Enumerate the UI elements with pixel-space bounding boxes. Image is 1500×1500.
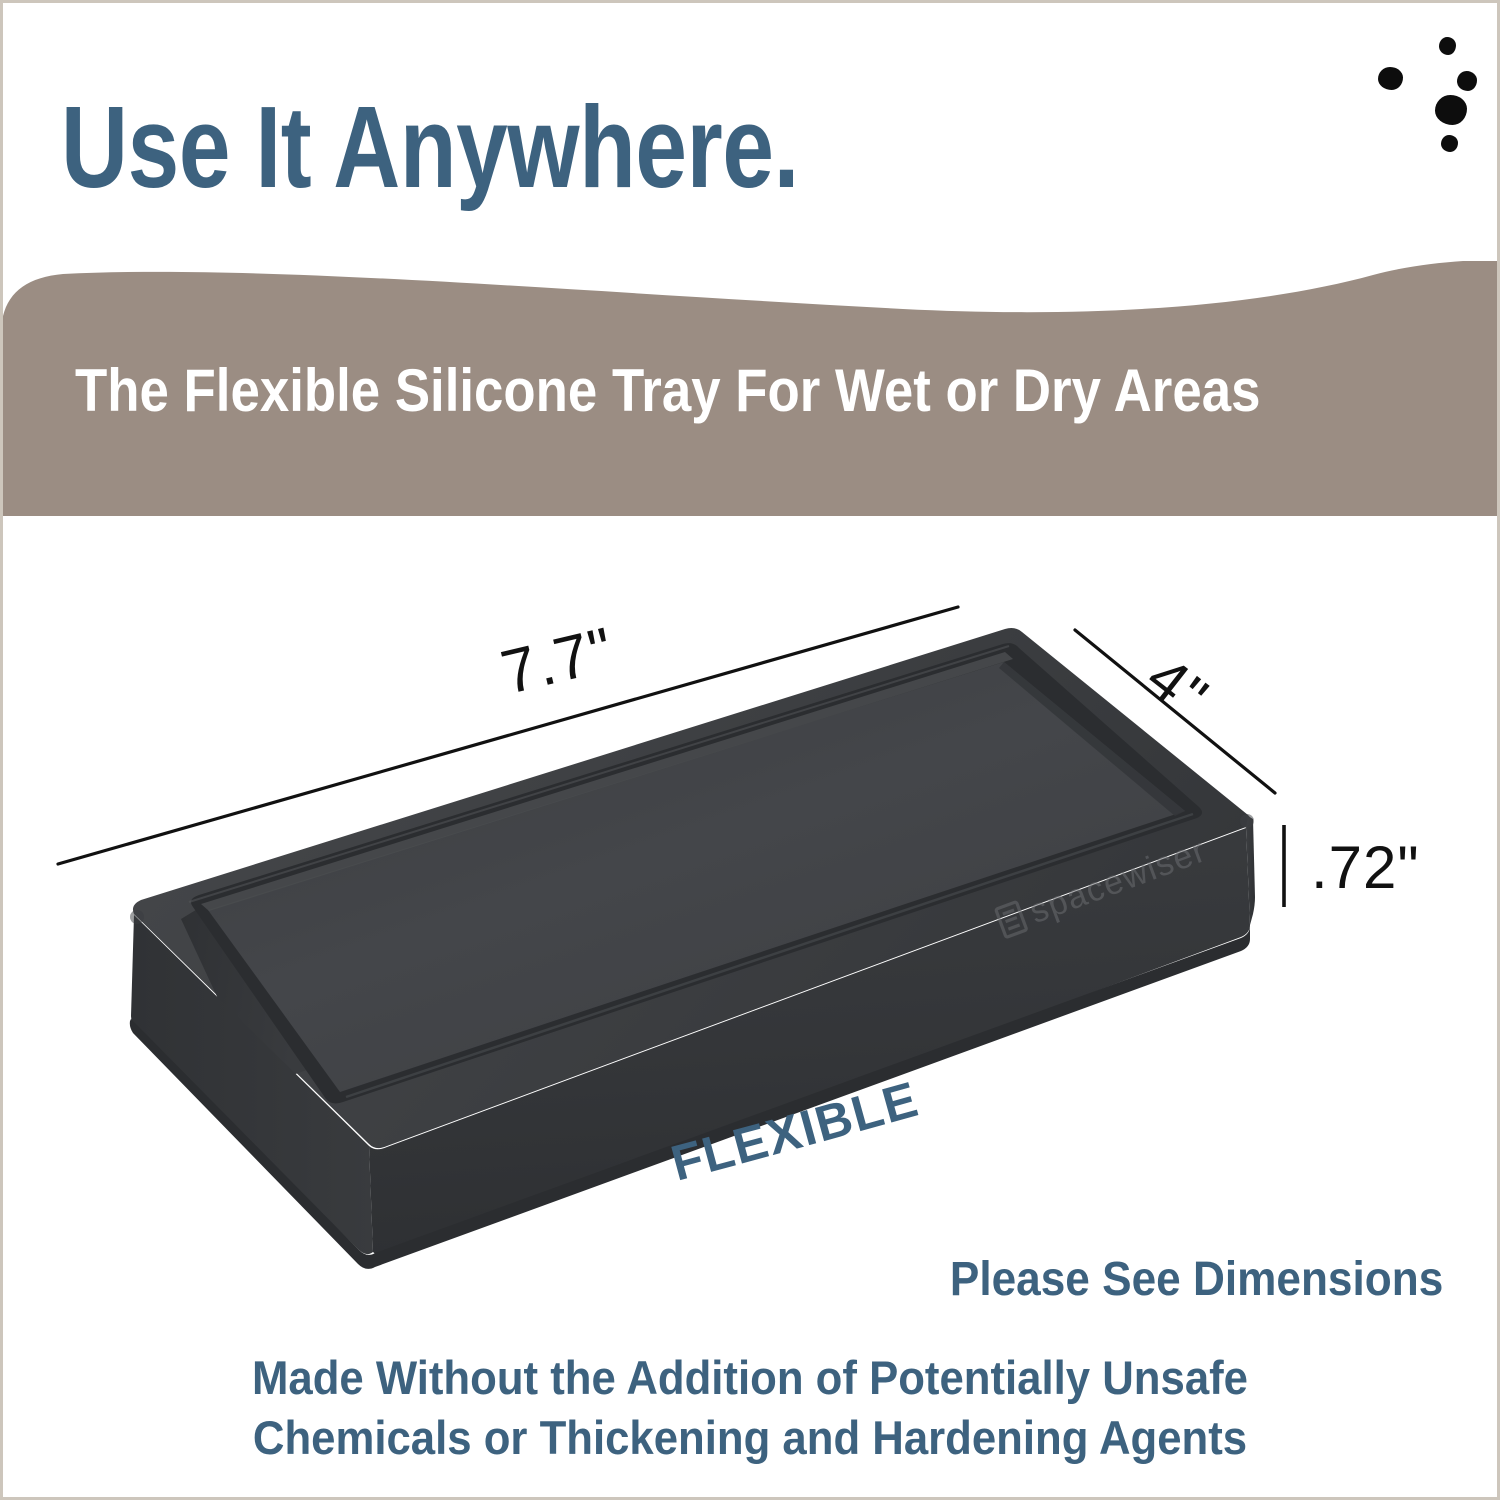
tray-corner-fillet-left xyxy=(130,910,144,924)
see-dimensions-text: Please See Dimensions xyxy=(950,1256,1443,1304)
flexible-callout: FLEXIBLE xyxy=(669,1077,959,1187)
product-infographic: Use It Anywhere. The Flexible Silicone T… xyxy=(0,0,1500,1500)
footnote-line-2: Chemicals or Thickening and Hardening Ag… xyxy=(55,1408,1444,1468)
page-title: Use It Anywhere. xyxy=(61,89,799,205)
footnote-block: Made Without the Addition of Potentially… xyxy=(3,1348,1497,1468)
dot-2 xyxy=(1378,67,1403,90)
dot-4 xyxy=(1435,95,1467,125)
tray-corner-fillet-right xyxy=(1240,814,1254,828)
dimension-label-height: .72" xyxy=(1311,833,1420,902)
flexible-label: FLEXIBLE xyxy=(665,1071,924,1192)
dot-1 xyxy=(1439,37,1456,55)
banner-subtitle: The Flexible Silicone Tray For Wet or Dr… xyxy=(75,361,1260,421)
dot-5 xyxy=(1441,135,1458,152)
dot-3 xyxy=(1457,71,1477,91)
footnote-line-1: Made Without the Addition of Potentially… xyxy=(55,1348,1444,1408)
